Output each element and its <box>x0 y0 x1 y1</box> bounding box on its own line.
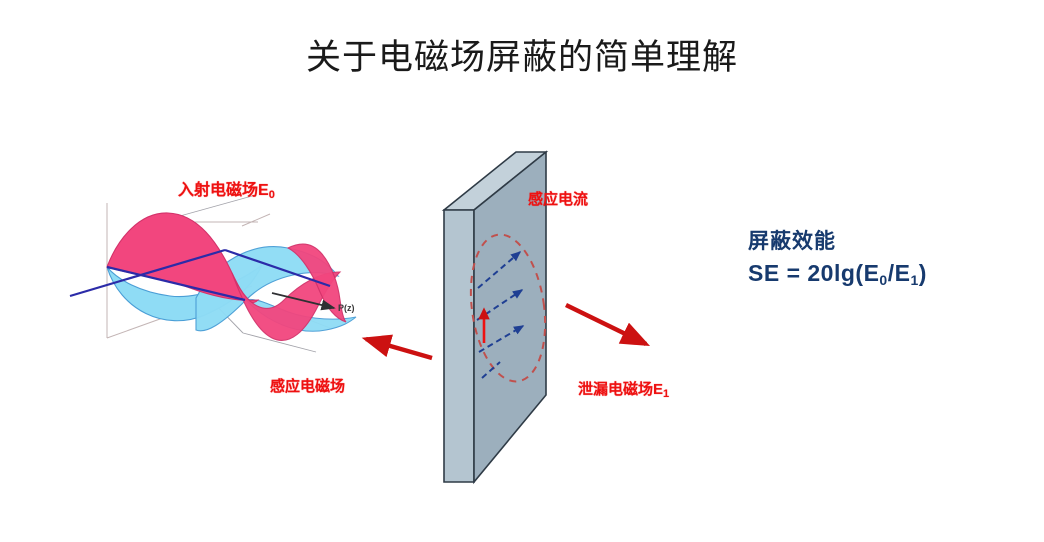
shielding-effectiveness-block: 屏蔽效能 SE = 20lg(E0/E1) <box>748 228 927 289</box>
label-induced-current: 感应电流 <box>528 188 588 209</box>
label-incident-field-text: 入射电磁场E <box>178 182 269 199</box>
formula-suffix: ) <box>919 260 927 286</box>
reflected-field-arrow <box>366 339 432 358</box>
shielding-effectiveness-heading: 屏蔽效能 <box>748 228 927 256</box>
plate-side-face <box>444 210 474 482</box>
formula-prefix: SE = 20lg(E <box>748 260 879 286</box>
label-leaked-field: 泄漏电磁场E1 <box>578 378 669 399</box>
label-propagation-axis: P(z) <box>338 303 355 313</box>
label-leaked-field-subscript: 1 <box>663 388 669 400</box>
label-leaked-field-text: 泄漏电磁场E <box>578 381 663 398</box>
shielding-effectiveness-formula: SE = 20lg(E0/E1) <box>748 258 927 289</box>
formula-mid: /E <box>888 260 911 286</box>
leaked-field-arrow <box>566 305 646 344</box>
label-induced-field: 感应电磁场 <box>270 375 345 396</box>
label-incident-field: 入射电磁场E0 <box>178 176 275 200</box>
formula-sub-1: 1 <box>910 272 918 288</box>
formula-sub-0: 0 <box>879 272 887 288</box>
slide-canvas: 关于电磁场屏蔽的简单理解 <box>0 0 1044 542</box>
label-incident-field-subscript: 0 <box>269 189 275 201</box>
